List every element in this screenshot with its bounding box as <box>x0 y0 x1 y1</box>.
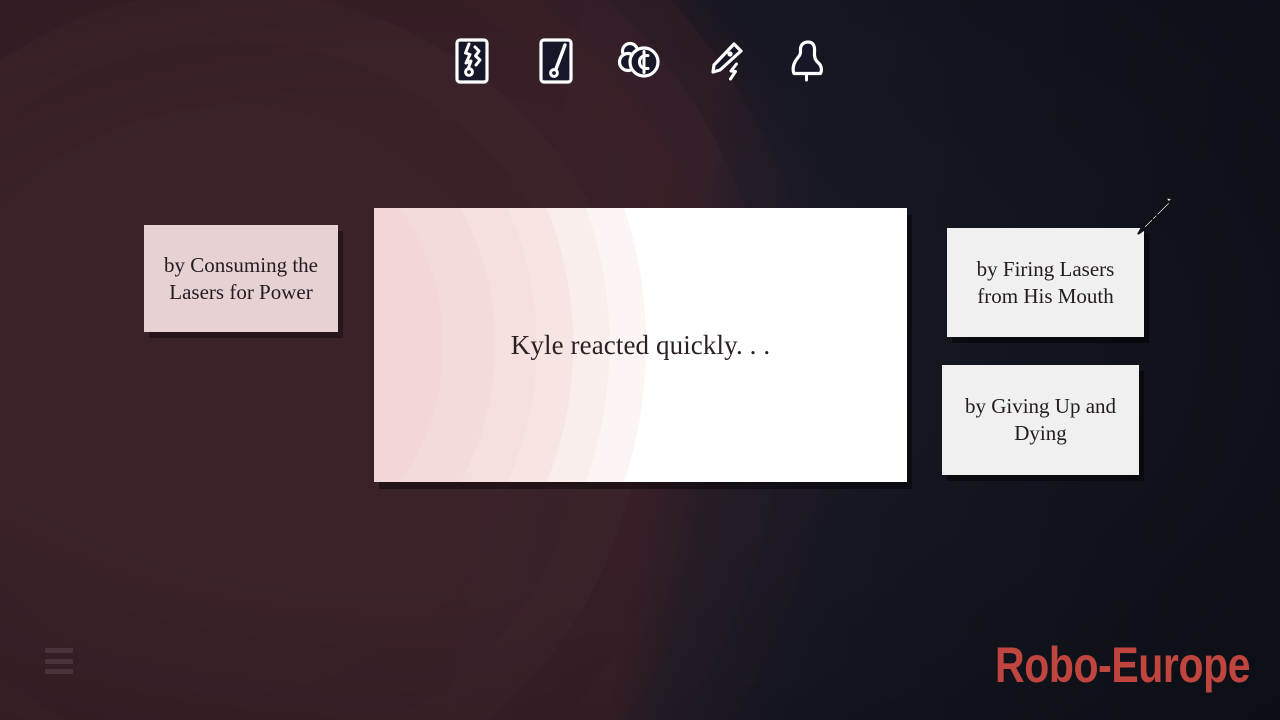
hamburger-line <box>45 669 73 674</box>
main-story-text: Kyle reacted quickly. . . <box>511 328 770 363</box>
status-icon-bar <box>0 32 1280 90</box>
main-story-card[interactable]: Kyle reacted quickly. . . <box>374 208 907 482</box>
choice-card-consume-lasers[interactable]: by Consuming the Lasers for Power <box>144 225 338 332</box>
choice-label: by Consuming the Lasers for Power <box>156 252 326 306</box>
choice-card-firing-lasers[interactable]: by Firing Lasers from His Mouth <box>947 228 1144 337</box>
coins-cent-icon[interactable] <box>611 32 669 90</box>
game-title: Robo-Europe <box>995 636 1250 694</box>
hamburger-line <box>45 659 73 664</box>
character-bust-icon[interactable] <box>779 32 837 90</box>
game-screen: Kyle reacted quickly. . . by Consuming t… <box>0 0 1280 720</box>
cracked-tablet-icon[interactable] <box>443 32 501 90</box>
hamburger-line <box>45 648 73 653</box>
hamburger-menu-button[interactable] <box>45 648 73 674</box>
choice-label: by Firing Lasers from His Mouth <box>961 256 1130 310</box>
choice-card-giving-up[interactable]: by Giving Up and Dying <box>942 365 1139 475</box>
choice-label: by Giving Up and Dying <box>956 393 1125 447</box>
laser-torch-icon[interactable] <box>695 32 753 90</box>
dark-tablet-icon[interactable] <box>527 32 585 90</box>
